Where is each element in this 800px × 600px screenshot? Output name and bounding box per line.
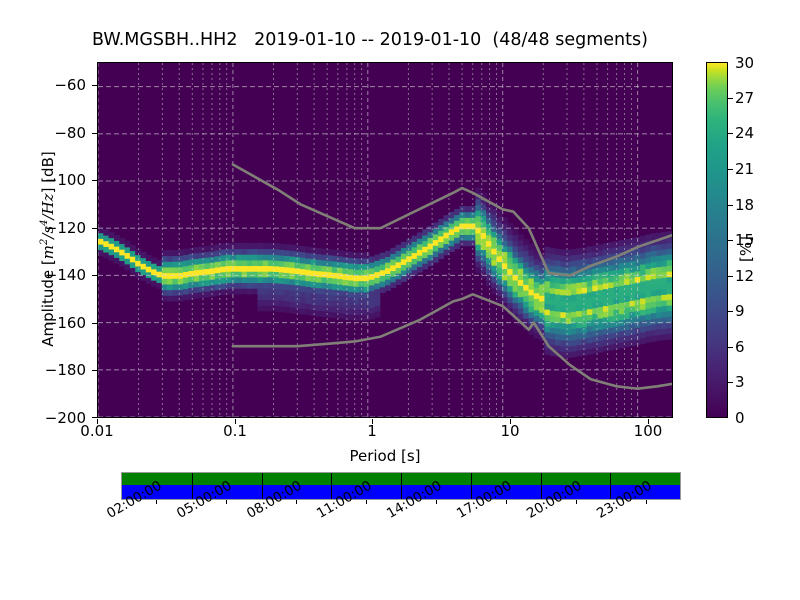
ppsd-cell: [199, 263, 205, 269]
ppsd-cell: [300, 252, 306, 258]
ppsd-cell: [667, 243, 672, 249]
timeline-tick-mark: [226, 500, 227, 504]
ppsd-cell: [475, 238, 481, 244]
ppsd-cell: [220, 249, 226, 255]
ppsd-cell: [252, 271, 258, 277]
ppsd-cell: [560, 266, 566, 272]
ppsd-cell: [422, 229, 428, 235]
ppsd-cell: [645, 285, 651, 291]
ppsd-cell: [529, 289, 535, 295]
ppsd-cell: [587, 337, 593, 343]
ppsd-cell: [608, 248, 614, 254]
ppsd-cell: [178, 295, 184, 301]
ppsd-cell: [534, 287, 540, 293]
ppsd-cell: [645, 246, 651, 252]
ppsd-cell: [475, 222, 481, 228]
ppsd-cell: [141, 269, 147, 275]
ppsd-cell: [321, 249, 327, 255]
ppsd-cell: [619, 342, 625, 348]
y-axis-label: Amplitude [m2/s4/Hz] [dB]: [39, 119, 57, 379]
ppsd-cell: [497, 279, 503, 285]
ppsd-cell: [661, 266, 667, 272]
ppsd-cell: [518, 234, 524, 240]
timeline-separator: [541, 473, 542, 499]
ppsd-cell: [576, 305, 582, 311]
ppsd-cell: [316, 293, 322, 299]
ppsd-cell: [273, 288, 279, 294]
ppsd-cell: [412, 258, 418, 264]
ppsd-cell: [555, 254, 561, 260]
ppsd-cell: [619, 302, 625, 308]
ppsd-cell: [348, 280, 354, 286]
ppsd-cell: [130, 256, 136, 262]
ppsd-cell: [582, 338, 588, 344]
ppsd-cell: [263, 260, 269, 266]
ppsd-cell: [183, 266, 189, 272]
ppsd-plot-area[interactable]: [97, 62, 673, 418]
ppsd-cell: [210, 290, 216, 296]
ppsd-cell: [513, 303, 519, 309]
ppsd-cell: [311, 298, 317, 304]
ppsd-cell: [608, 299, 614, 305]
ppsd-cell: [114, 240, 120, 246]
ppsd-cell: [576, 294, 582, 300]
ppsd-cell: [598, 312, 604, 318]
y-tick-label: −60: [32, 76, 86, 94]
ppsd-cell: [544, 332, 550, 338]
ppsd-cell: [130, 245, 136, 251]
ppsd-cell: [539, 278, 545, 284]
ppsd-cell: [608, 316, 614, 322]
ppsd-cell: [316, 265, 322, 271]
ppsd-cell: [332, 255, 338, 261]
ppsd-cell: [151, 269, 157, 275]
ppsd-cell: [103, 246, 109, 252]
ppsd-cell: [571, 323, 577, 329]
ppsd-cell: [454, 226, 460, 232]
ppsd-cell: [624, 307, 630, 313]
ppsd-cell: [364, 258, 370, 264]
ppsd-cell: [475, 244, 481, 250]
ppsd-cell: [348, 252, 354, 258]
ppsd-cell: [188, 259, 194, 265]
ppsd-cell: [263, 283, 269, 289]
ppsd-cell: [624, 330, 630, 336]
colorbar-tick-label: 21: [735, 160, 754, 178]
ppsd-cell: [162, 267, 168, 273]
ppsd-cell: [417, 255, 423, 261]
ppsd-cell: [661, 277, 667, 283]
ppsd-cell: [523, 296, 529, 302]
ppsd-cell: [178, 284, 184, 290]
ppsd-cell: [651, 324, 657, 330]
ppsd-cell: [560, 300, 566, 306]
ppsd-cell: [156, 283, 162, 289]
ppsd-cell: [544, 247, 550, 253]
ppsd-cell: [438, 230, 444, 236]
ppsd-cell: [390, 248, 396, 254]
ppsd-cell: [369, 313, 375, 319]
ppsd-cell: [645, 336, 651, 342]
ppsd-cell: [242, 271, 248, 277]
ppsd-cell: [518, 285, 524, 291]
ppsd-cell: [550, 276, 556, 282]
ppsd-cell: [252, 249, 258, 255]
ppsd-cell: [231, 283, 237, 289]
ppsd-cell: [247, 283, 253, 289]
ppsd-cell: [257, 294, 263, 300]
ppsd-cell: [412, 264, 418, 270]
ppsd-cell: [475, 267, 481, 273]
ppsd-cell: [342, 291, 348, 297]
ppsd-cell: [651, 279, 657, 285]
ppsd-cell: [582, 327, 588, 333]
ppsd-cell: [523, 290, 529, 296]
ppsd-cell: [544, 281, 550, 287]
ppsd-cell: [311, 276, 317, 282]
ppsd-cell: [640, 298, 646, 304]
ppsd-cell: [300, 269, 306, 275]
ppsd-cell: [273, 254, 279, 260]
ppsd-cell: [231, 260, 237, 266]
ppsd-cell: [348, 297, 354, 303]
ppsd-cell: [465, 234, 471, 240]
ppsd-cell: [550, 293, 556, 299]
ppsd-cell: [188, 276, 194, 282]
ppsd-cell: [555, 317, 561, 323]
ppsd-cell: [486, 269, 492, 275]
ppsd-cell: [236, 277, 242, 283]
ppsd-cell: [167, 284, 173, 290]
ppsd-cell: [438, 247, 444, 253]
ppsd-cell: [608, 293, 614, 299]
ppsd-cell: [624, 341, 630, 347]
ppsd-cell: [497, 233, 503, 239]
ppsd-cell: [380, 275, 386, 281]
ppsd-cell: [667, 305, 672, 311]
ppsd-cell: [507, 240, 513, 246]
page-title: BW.MGSBH..HH2 2019-01-10 -- 2019-01-10 (…: [0, 30, 740, 50]
ppsd-cell: [645, 263, 651, 269]
ppsd-cell: [146, 260, 152, 266]
ppsd-cell: [497, 211, 503, 217]
ppsd-cell: [295, 285, 301, 291]
ppsd-cell: [507, 291, 513, 297]
ppsd-cell: [529, 249, 535, 255]
ppsd-cell: [396, 256, 402, 262]
ppsd-cell: [183, 288, 189, 294]
ppsd-cell: [125, 247, 131, 253]
ppsd-cell: [305, 286, 311, 292]
ppsd-cell: [560, 306, 566, 312]
ppsd-cell: [587, 246, 593, 252]
ppsd-cell: [555, 260, 561, 266]
ppsd-cell: [507, 280, 513, 286]
ppsd-cell: [640, 304, 646, 310]
ppsd-cell: [651, 301, 657, 307]
ppsd-cell: [513, 246, 519, 252]
ppsd-cell: [624, 284, 630, 290]
colorbar-tick-mark: [728, 347, 733, 348]
ppsd-cell: [651, 335, 657, 341]
x-tick-mark: [510, 419, 511, 424]
ppsd-cell: [332, 278, 338, 284]
ppsd-cell: [667, 311, 672, 317]
ppsd-cell: [353, 252, 359, 258]
ppsd-cell: [667, 248, 672, 254]
x-tick-mark: [372, 419, 373, 424]
ppsd-cell: [507, 235, 513, 241]
ppsd-cell: [629, 334, 635, 340]
ppsd-cell: [284, 261, 290, 267]
ppsd-cell: [656, 278, 662, 284]
ppsd-cell: [305, 258, 311, 264]
ppsd-cell: [204, 268, 210, 274]
ppsd-cell: [486, 257, 492, 263]
ppsd-cell: [289, 284, 295, 290]
ppsd-cell: [443, 232, 449, 238]
ppsd-cell: [449, 240, 455, 246]
x-axis-label: Period [s]: [97, 447, 673, 465]
ppsd-cell: [433, 251, 439, 257]
ppsd-cell: [247, 249, 253, 255]
ppsd-cell: [125, 264, 131, 270]
ppsd-cell: [475, 205, 481, 211]
ppsd-cell: [661, 334, 667, 340]
ppsd-cell: [321, 283, 327, 289]
ppsd-cell: [507, 286, 513, 292]
ppsd-cell: [369, 285, 375, 291]
ppsd-cell: [529, 266, 535, 272]
ppsd-cell: [369, 279, 375, 285]
x-tick-mark: [648, 419, 649, 424]
ppsd-cell: [629, 278, 635, 284]
ppsd-cell: [172, 250, 178, 256]
ppsd-cell: [236, 266, 242, 272]
ppsd-cell: [242, 243, 248, 249]
ppsd-cell: [497, 222, 503, 228]
ppsd-cell: [438, 219, 444, 225]
ppsd-cell: [364, 286, 370, 292]
colorbar-tick-mark: [728, 205, 733, 206]
ppsd-cell: [475, 255, 481, 261]
ppsd-cell: [242, 266, 248, 272]
ppsd-cell: [529, 255, 535, 261]
ppsd-cell: [167, 278, 173, 284]
ppsd-cell: [98, 250, 104, 256]
timeline-tick-mark: [436, 500, 437, 504]
ppsd-cell: [497, 216, 503, 222]
ppsd-cell: [598, 318, 604, 324]
ppsd-cell: [560, 261, 566, 267]
ppsd-cell: [667, 282, 672, 288]
ppsd-cell: [194, 275, 200, 281]
ppsd-cell: [353, 281, 359, 287]
ppsd-cell: [353, 298, 359, 304]
ppsd-cell: [279, 261, 285, 267]
ppsd-cell: [332, 284, 338, 290]
ppsd-cell: [327, 255, 333, 261]
ppsd-cell: [534, 315, 540, 321]
ppsd-cell: [146, 266, 152, 272]
ppsd-cell: [656, 329, 662, 335]
ppsd-cell: [518, 291, 524, 297]
ppsd-cell: [396, 250, 402, 256]
ppsd-cell: [103, 241, 109, 247]
ppsd-cell: [172, 278, 178, 284]
ppsd-cell: [257, 266, 263, 272]
y-tick-label: −160: [32, 314, 86, 332]
ppsd-cell: [316, 299, 322, 305]
ppsd-cell: [380, 258, 386, 264]
ppsd-cell: [454, 237, 460, 243]
ppsd-cell: [433, 245, 439, 251]
ppsd-cell: [417, 244, 423, 250]
y-tick-label: −100: [32, 171, 86, 189]
ppsd-cell: [640, 332, 646, 338]
ppsd-cell: [550, 327, 556, 333]
ppsd-cell: [598, 335, 604, 341]
ppsd-cell: [624, 296, 630, 302]
ppsd-cell: [374, 272, 380, 278]
timeline-tick-mark: [646, 500, 647, 504]
ppsd-cell: [305, 309, 311, 315]
ppsd-cell: [369, 268, 375, 274]
ppsd-cell: [539, 318, 545, 324]
ppsd-cell: [210, 257, 216, 263]
ppsd-cell: [587, 258, 593, 264]
ppsd-cell: [390, 253, 396, 259]
ppsd-cell: [119, 238, 125, 244]
ppsd-cell: [656, 295, 662, 301]
ppsd-cell: [172, 284, 178, 290]
ppsd-cell: [231, 266, 237, 272]
ppsd-cell: [199, 252, 205, 258]
ppsd-cell: [661, 294, 667, 300]
ppsd-cell: [300, 280, 306, 286]
ppsd-cell: [311, 287, 317, 293]
ppsd-cell: [645, 325, 651, 331]
y-tick-label: −200: [32, 409, 86, 427]
ppsd-cell: [619, 268, 625, 274]
ppsd-cell: [98, 238, 104, 244]
y-tick-label: −120: [32, 219, 86, 237]
ppsd-cell: [560, 312, 566, 318]
ppsd-cell: [194, 258, 200, 264]
ppsd-cell: [204, 263, 210, 269]
ppsd-cell: [624, 335, 630, 341]
ppsd-cell: [640, 321, 646, 327]
ppsd-cell: [571, 283, 577, 289]
ppsd-cell: [231, 271, 237, 277]
ppsd-cell: [252, 288, 258, 294]
ppsd-cell: [364, 264, 370, 270]
ppsd-cell: [534, 264, 540, 270]
ppsd-cell: [289, 245, 295, 251]
ppsd-cell: [183, 277, 189, 283]
ppsd-cell: [348, 269, 354, 275]
ppsd-cell: [645, 302, 651, 308]
colorbar-label: [%]: [737, 219, 755, 279]
ppsd-cell: [199, 269, 205, 275]
colorbar-tick-mark: [728, 382, 733, 383]
ppsd-cell: [651, 233, 657, 239]
colorbar-tick-mark: [728, 311, 733, 312]
ppsd-cell: [486, 235, 492, 241]
ppsd-cell: [353, 269, 359, 275]
ppsd-cell: [449, 234, 455, 240]
ppsd-cell: [263, 300, 269, 306]
ppsd-cell: [220, 266, 226, 272]
ppsd-cell: [178, 278, 184, 284]
ppsd-cell: [151, 263, 157, 269]
ppsd-cell: [598, 329, 604, 335]
ppsd-cell: [582, 344, 588, 350]
ppsd-cell: [497, 262, 503, 268]
ppsd-cell: [465, 217, 471, 223]
ppsd-cell: [550, 316, 556, 322]
ppsd-cell: [130, 267, 136, 273]
ppsd-cell: [534, 259, 540, 265]
ppsd-cell: [629, 261, 635, 267]
ppsd-cell: [263, 254, 269, 260]
colorbar-tick-label: 27: [735, 89, 754, 107]
ppsd-cell: [146, 277, 152, 283]
ppsd-cell: [560, 346, 566, 352]
ppsd-cell: [550, 299, 556, 305]
ppsd-cell: [555, 283, 561, 289]
ppsd-cell: [587, 303, 593, 309]
ppsd-cell: [560, 289, 566, 295]
ppsd-cell: [374, 306, 380, 312]
ppsd-cell: [629, 340, 635, 346]
ppsd-cell: [236, 260, 242, 266]
ppsd-cell: [661, 283, 667, 289]
ppsd-cell: [422, 252, 428, 258]
ppsd-cell: [667, 333, 672, 339]
ppsd-cell: [342, 308, 348, 314]
ppsd-cell: [454, 215, 460, 221]
ppsd-cell: [279, 300, 285, 306]
ppsd-cell: [619, 336, 625, 342]
ppsd-cell: [640, 287, 646, 293]
ppsd-cell: [587, 286, 593, 292]
ppsd-cell: [640, 281, 646, 287]
ppsd-cell: [199, 292, 205, 298]
ppsd-cell: [289, 256, 295, 262]
colorbar-tick-label: 24: [735, 124, 754, 142]
ppsd-cell: [640, 253, 646, 259]
ppsd-cell: [172, 290, 178, 296]
ppsd-cell: [396, 245, 402, 251]
ppsd-cell: [247, 271, 253, 277]
ppsd-cell: [284, 267, 290, 273]
ppsd-cell: [316, 310, 322, 316]
colorbar-tick-label: 6: [735, 338, 745, 356]
ppsd-cell: [348, 286, 354, 292]
ppsd-cell: [156, 266, 162, 272]
ppsd-cell: [332, 295, 338, 301]
ppsd-cell: [645, 291, 651, 297]
ppsd-cell: [534, 298, 540, 304]
ppsd-cell: [342, 296, 348, 302]
ppsd-cell: [268, 260, 274, 266]
ppsd-cell: [571, 289, 577, 295]
ppsd-cell: [640, 275, 646, 281]
ppsd-cell: [651, 256, 657, 262]
ppsd-cell: [656, 267, 662, 273]
ppsd-cell: [576, 333, 582, 339]
